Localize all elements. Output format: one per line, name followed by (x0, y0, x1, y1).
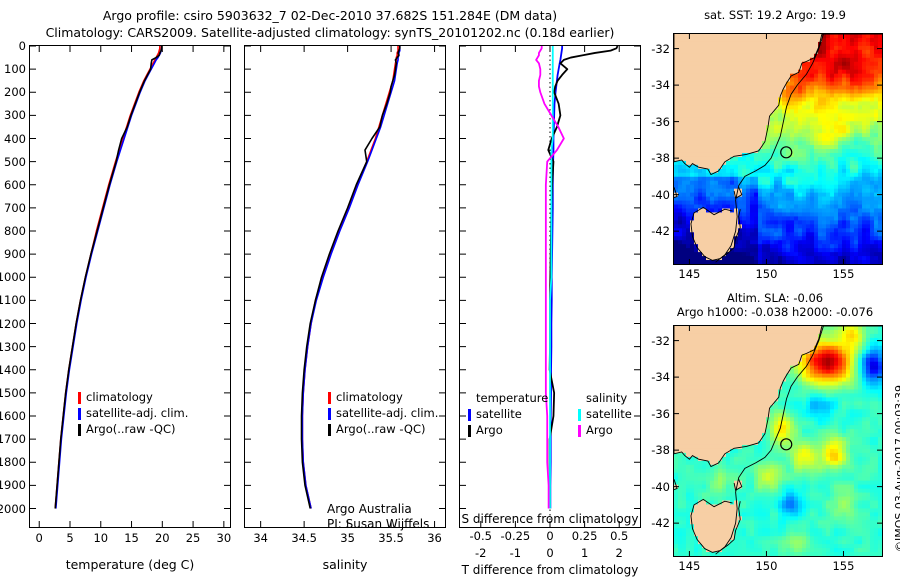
salinity-legend-swatch-2 (328, 424, 331, 436)
depth-tick-700: 700 (0, 201, 26, 215)
sla-lat-tick--40: -40 (636, 480, 670, 494)
difference-profile-panel (459, 45, 641, 528)
sst-lon-tick-155: 155 (823, 267, 863, 281)
salinity-tick-34.5: 34.5 (282, 531, 326, 545)
difference-legend-temperature-header: temperature (476, 391, 548, 405)
page-title-line2: Climatology: CARS2009. Satellite-adjuste… (0, 25, 660, 40)
sla-map-panel (673, 325, 883, 557)
depth-tick-100: 100 (0, 62, 26, 76)
temperature-plot-area (30, 46, 230, 527)
salinity-legend-label-0: climatology (336, 390, 403, 404)
page-title-line1: Argo profile: csiro 5903632_7 02-Dec-201… (0, 8, 660, 23)
difference-legend-salinity-label-0: satellite (586, 407, 632, 421)
sst-lat-tick--34: -34 (636, 78, 670, 92)
depth-tick-1800: 1800 (0, 455, 26, 469)
salinity-legend-label-2: Argo(..raw -QC) (336, 422, 426, 436)
depth-tick-1500: 1500 (0, 386, 26, 400)
sla-lat-tick--34: -34 (636, 370, 670, 384)
imos-credit: ©IMOS 03-Aug-2017 00:03:39 (893, 385, 900, 552)
sla-map-title-line2: Argo h1000: -0.038 h2000: -0.076 (655, 305, 895, 319)
temperature-legend-swatch-1 (78, 408, 81, 420)
sst-lon-tick-150: 150 (746, 267, 786, 281)
salinity-legend-swatch-0 (328, 392, 331, 404)
depth-tick-1400: 1400 (0, 363, 26, 377)
depth-tick-500: 500 (0, 155, 26, 169)
difference-plot-area (460, 46, 640, 527)
difference-legend-salinity-swatch-0 (578, 409, 581, 421)
sla-map-title-line1: Altim. SLA: -0.06 (660, 291, 890, 305)
sst-lat-tick--42: -42 (636, 224, 670, 238)
salinity-legend-swatch-1 (328, 408, 331, 420)
sst-lat-tick--36: -36 (636, 115, 670, 129)
depth-tick-1200: 1200 (0, 317, 26, 331)
sla-lon-tick-155: 155 (823, 559, 863, 573)
salinity-tick-35: 35 (326, 531, 370, 545)
difference-legend-temperature-swatch-0 (468, 409, 471, 421)
depth-tick-300: 300 (0, 108, 26, 122)
difference-legend-temperature-label-1: Argo (476, 423, 503, 437)
difference-legend-temperature-swatch-1 (468, 425, 471, 437)
sla-lat-tick--32: -32 (636, 334, 670, 348)
depth-tick-1700: 1700 (0, 432, 26, 446)
depth-tick-0: 0 (0, 39, 26, 53)
sla-lon-tick-150: 150 (746, 559, 786, 573)
sla-map-canvas (674, 326, 882, 556)
temperature-profile-panel (29, 45, 231, 528)
argo-australia-label: Argo Australia (327, 502, 412, 516)
temperature-legend-label-1: satellite-adj. clim. (86, 406, 188, 420)
sla-lon-tick-145: 145 (669, 559, 709, 573)
sst-lon-tick-145: 145 (669, 267, 709, 281)
sst-map-title: sat. SST: 19.2 Argo: 19.9 (660, 8, 890, 22)
salinity-tick-35.5: 35.5 (369, 531, 413, 545)
sdiff-tick-0.5: 0.5 (597, 529, 641, 543)
depth-tick-1100: 1100 (0, 293, 26, 307)
salinity-difference-axis-label: S difference from climatology (455, 512, 645, 526)
difference-legend-salinity-label-1: Argo (586, 423, 613, 437)
pi-label: PI: Susan Wijffels (327, 517, 429, 531)
temperature-axis-label: temperature (deg C) (29, 557, 231, 572)
salinity-plot-area (245, 46, 445, 527)
difference-legend-salinity-swatch-1 (578, 425, 581, 437)
sla-lat-tick--38: -38 (636, 443, 670, 457)
sst-lat-tick--38: -38 (636, 151, 670, 165)
depth-tick-900: 900 (0, 247, 26, 261)
temperature-legend-swatch-2 (78, 424, 81, 436)
sst-map-panel (673, 33, 883, 265)
sla-lat-tick--42: -42 (636, 516, 670, 530)
difference-legend-salinity-header: salinity (586, 391, 627, 405)
sst-map-canvas (674, 34, 882, 264)
temperature-legend-label-2: Argo(..raw -QC) (86, 422, 176, 436)
temperature-difference-axis-label: T difference from climatology (455, 563, 645, 577)
depth-tick-1900: 1900 (0, 478, 26, 492)
salinity-axis-label: salinity (244, 557, 446, 572)
sla-lat-tick--36: -36 (636, 407, 670, 421)
salinity-legend-label-1: satellite-adj. clim. (336, 406, 438, 420)
sst-lat-tick--32: -32 (636, 42, 670, 56)
salinity-profile-panel (244, 45, 446, 528)
depth-tick-400: 400 (0, 132, 26, 146)
temperature-legend-label-0: climatology (86, 390, 153, 404)
sst-lat-tick--40: -40 (636, 188, 670, 202)
tdiff-tick-2: 2 (599, 546, 639, 560)
depth-tick-1600: 1600 (0, 409, 26, 423)
depth-tick-200: 200 (0, 85, 26, 99)
difference-legend-temperature-label-0: satellite (476, 407, 522, 421)
salinity-tick-36: 36 (413, 531, 457, 545)
salinity-tick-34: 34 (239, 531, 283, 545)
depth-tick-1300: 1300 (0, 340, 26, 354)
depth-tick-2000: 2000 (0, 502, 26, 516)
depth-tick-600: 600 (0, 178, 26, 192)
depth-tick-800: 800 (0, 224, 26, 238)
depth-tick-1000: 1000 (0, 270, 26, 284)
temperature-legend-swatch-0 (78, 392, 81, 404)
